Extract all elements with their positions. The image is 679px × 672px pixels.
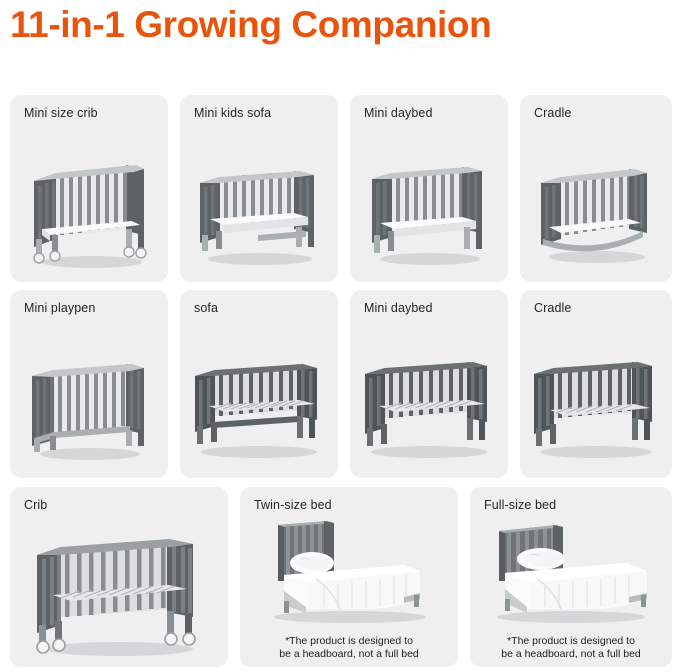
product-card-sofa[interactable]: sofa: [180, 290, 338, 478]
full-size-bed-illustration: [470, 519, 672, 625]
product-card-full-size-bed[interactable]: Full-size bed: [470, 487, 672, 667]
card-label: Cradle: [534, 301, 571, 315]
card-label: Full-size bed: [484, 498, 556, 512]
sofa-illustration: [180, 352, 338, 460]
product-card-mini-kids-sofa[interactable]: Mini kids sofa: [180, 95, 338, 282]
product-card-mini-size-crib[interactable]: Mini size crib: [10, 95, 168, 282]
mini-playpen-illustration: [10, 342, 168, 464]
cradle-full-illustration: [520, 348, 672, 460]
product-card-cradle-full[interactable]: Cradle: [520, 290, 672, 478]
card-label: Cradle: [534, 106, 571, 120]
mini-daybed-2-illustration: [350, 348, 508, 460]
mini-crib-illustration: [10, 143, 168, 271]
card-label: Mini daybed: [364, 301, 433, 315]
card-label: Crib: [24, 498, 47, 512]
cradle-mini-illustration: [520, 147, 672, 267]
mini-daybed-illustration: [350, 147, 508, 267]
card-label: Mini daybed: [364, 106, 433, 120]
card-note: *The product is designed to be a headboa…: [470, 635, 672, 661]
card-note: *The product is designed to be a headboa…: [240, 635, 458, 661]
product-card-crib[interactable]: Crib: [10, 487, 228, 667]
product-card-mini-daybed-2[interactable]: Mini daybed: [350, 290, 508, 478]
product-card-mini-daybed[interactable]: Mini daybed: [350, 95, 508, 282]
card-label: Mini size crib: [24, 106, 98, 120]
card-label: Mini playpen: [24, 301, 95, 315]
mini-kids-sofa-illustration: [180, 151, 338, 267]
twin-size-bed-illustration: [240, 519, 458, 625]
product-card-twin-size-bed[interactable]: Twin-size bed: [240, 487, 458, 667]
product-card-mini-playpen[interactable]: Mini playpen: [10, 290, 168, 478]
product-card-cradle-mini[interactable]: Cradle: [520, 95, 672, 282]
card-label: sofa: [194, 301, 218, 315]
page-title: 11-in-1 Growing Companion: [10, 4, 491, 46]
card-label: Mini kids sofa: [194, 106, 271, 120]
card-label: Twin-size bed: [254, 498, 332, 512]
crib-illustration: [10, 525, 228, 659]
